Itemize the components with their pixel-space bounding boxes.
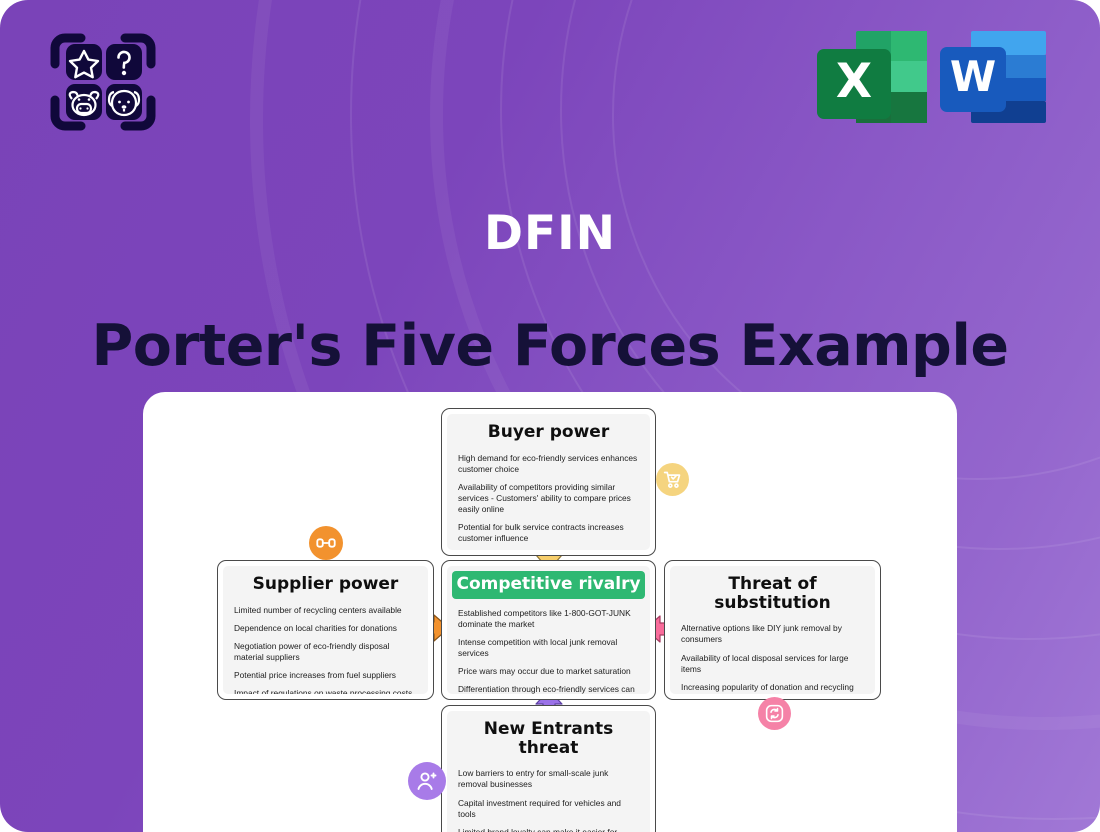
list-item: Potential for bulk service contracts inc… — [458, 522, 639, 544]
refresh-icon — [764, 703, 785, 724]
force-title-rivalry: Competitive rivalry — [452, 571, 645, 599]
entrants-add-user-badge[interactable] — [408, 762, 446, 800]
list-item: Low barriers to entry for small-scale ju… — [458, 768, 639, 790]
substitution-sync-badge[interactable] — [758, 697, 791, 730]
list-item: Limited brand loyalty can make it easier… — [458, 827, 639, 832]
force-list-rivalry: Established competitors like 1-800-GOT-J… — [458, 608, 639, 694]
force-box-competitive-rivalry[interactable]: Competitive rivalry Established competit… — [441, 560, 656, 700]
list-item: Differentiation through eco-friendly ser… — [458, 684, 639, 694]
qr-pet-logo-icon — [47, 30, 159, 134]
link-icon — [315, 532, 337, 554]
list-item: Established competitors like 1-800-GOT-J… — [458, 608, 639, 630]
force-box-buyer-power[interactable]: Buyer power High demand for eco-friendly… — [441, 408, 656, 556]
list-item: Increasing popularity of donation and re… — [681, 682, 864, 694]
list-item: Availability of local disposal services … — [681, 653, 864, 675]
list-item: Price wars may occur due to market satur… — [458, 666, 639, 677]
list-item: Limited number of recycling centers avai… — [234, 605, 417, 616]
add-user-icon — [415, 769, 439, 793]
list-item: High demand for eco-friendly services en… — [458, 453, 639, 475]
diagram-card: Buyer power High demand for eco-friendly… — [143, 392, 957, 832]
supplier-link-badge[interactable] — [309, 526, 343, 560]
force-box-new-entrants-threat[interactable]: New Entrants threat Low barriers to entr… — [441, 705, 656, 832]
list-item: Negotiation power of eco-friendly dispos… — [234, 641, 417, 663]
list-item: Dependence on local charities for donati… — [234, 623, 417, 634]
page-title: Porter's Five Forces Example — [0, 313, 1100, 379]
list-item: Availability of competitors providing si… — [458, 482, 639, 515]
list-item: Impact of regulations on waste processin… — [234, 688, 417, 694]
svg-text:W: W — [950, 52, 996, 101]
brand-name: DFIN — [0, 206, 1100, 261]
word-icon[interactable]: W — [938, 27, 1048, 127]
list-item: Potential price increases from fuel supp… — [234, 670, 417, 681]
shopping-cart-icon — [662, 469, 683, 490]
excel-icon[interactable]: X — [815, 27, 928, 127]
buyer-cart-badge[interactable] — [656, 463, 689, 496]
force-title-substitution: Threat of substitution — [681, 575, 864, 612]
force-list-substitution: Alternative options like DIY junk remova… — [681, 623, 864, 694]
list-item: Intense competition with local junk remo… — [458, 637, 639, 659]
force-list-entrants: Low barriers to entry for small-scale ju… — [458, 768, 639, 832]
list-item: Capital investment required for vehicles… — [458, 798, 639, 820]
force-list-supplier: Limited number of recycling centers avai… — [234, 605, 417, 694]
force-list-buyer: High demand for eco-friendly services en… — [458, 453, 639, 550]
svg-text:X: X — [836, 54, 872, 109]
force-title-supplier: Supplier power — [234, 575, 417, 594]
force-title-buyer: Buyer power — [458, 423, 639, 442]
force-box-supplier-power[interactable]: Supplier power Limited number of recycli… — [217, 560, 434, 700]
force-box-threat-of-substitution[interactable]: Threat of substitution Alternative optio… — [664, 560, 881, 700]
list-item: Alternative options like DIY junk remova… — [681, 623, 864, 645]
force-title-entrants: New Entrants threat — [458, 720, 639, 757]
